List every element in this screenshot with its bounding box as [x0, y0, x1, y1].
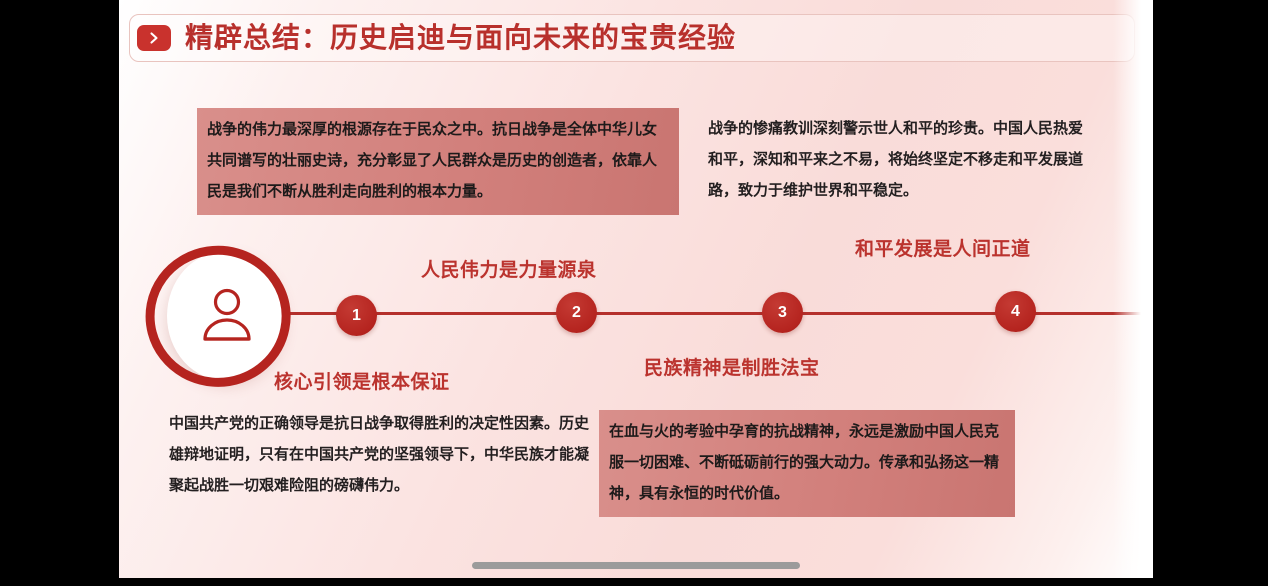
paragraph-top-right: 战争的惨痛教训深刻警示世人和平的珍贵。中国人民热爱和平，深知和平来之不易，将始终…	[708, 113, 1090, 206]
screen: 精辟总结：历史启迪与面向未来的宝贵经验 战争的伟力最深厚的根源存在于民众之中。抗…	[0, 0, 1268, 586]
slide-page: 精辟总结：历史启迪与面向未来的宝贵经验 战争的伟力最深厚的根源存在于民众之中。抗…	[119, 0, 1153, 578]
chevron-right-icon	[137, 25, 171, 51]
timeline-label-4: 和平发展是人间正道	[855, 234, 1031, 261]
timeline-label-2: 人民伟力是力量源泉	[421, 255, 597, 282]
page-title: 精辟总结：历史启迪与面向未来的宝贵经验	[185, 24, 736, 52]
timeline-label-3: 民族精神是制胜法宝	[644, 353, 820, 380]
paragraph-top-left: 战争的伟力最深厚的根源存在于民众之中。抗日战争是全体中华儿女共同谱写的壮丽史诗，…	[197, 108, 679, 215]
scrollbar-thumb[interactable]	[472, 562, 800, 569]
letterbox-bottom	[0, 578, 1268, 586]
horizontal-scrollbar[interactable]	[119, 558, 1153, 572]
timeline-node-2[interactable]: 2	[556, 292, 597, 333]
person-icon	[200, 287, 254, 343]
paragraph-bottom-left: 中国共产党的正确领导是抗日战争取得胜利的决定性因素。历史雄辩地证明，只有在中国共…	[169, 408, 589, 501]
timeline-node-1[interactable]: 1	[336, 295, 377, 336]
timeline-label-1: 核心引领是根本保证	[274, 367, 450, 394]
paragraph-bottom-right: 在血与火的考验中孕育的抗战精神，永远是激励中国人民克服一切困难、不断砥砺前行的强…	[599, 410, 1015, 517]
timeline-node-4[interactable]: 4	[995, 291, 1036, 332]
slide-title-row: 精辟总结：历史启迪与面向未来的宝贵经验	[137, 18, 736, 58]
timeline-node-3[interactable]: 3	[762, 292, 803, 333]
